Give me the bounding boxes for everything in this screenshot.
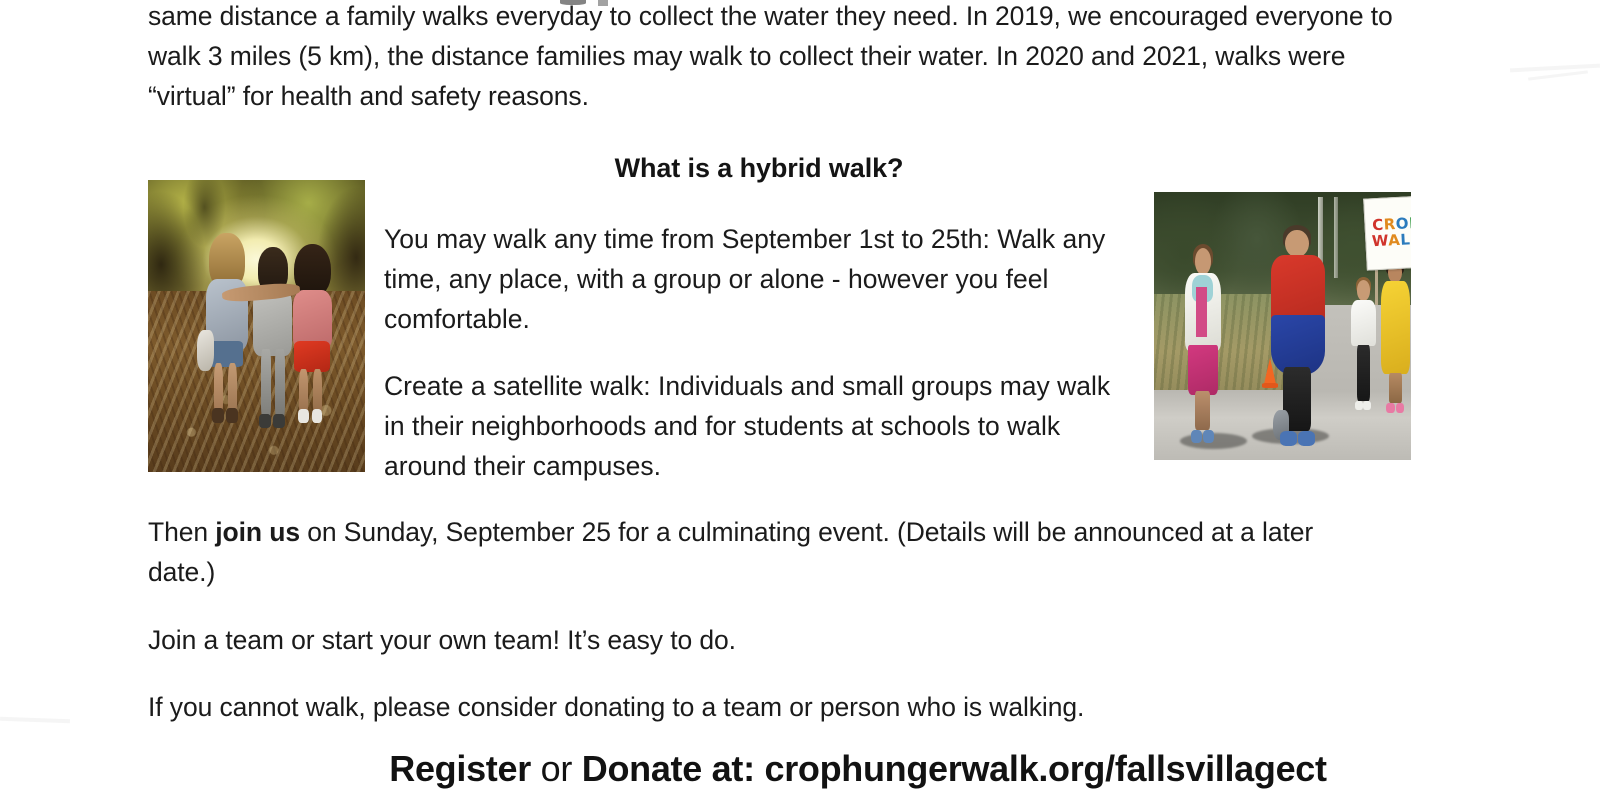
walker-legs	[1357, 345, 1369, 402]
walker-legs	[1389, 373, 1403, 403]
child-shorts	[294, 341, 330, 373]
cone-base	[1262, 383, 1278, 388]
sign-letter: W	[1371, 232, 1388, 251]
tree-trunk	[1334, 197, 1338, 277]
register-label: Register	[389, 748, 531, 789]
join-us-emphasis: join us	[215, 517, 300, 547]
donate-paragraph: If you cannot walk, please consider dona…	[148, 687, 1398, 727]
child-shoe	[226, 408, 237, 423]
inner-top	[1196, 287, 1207, 337]
sign-letter: K	[1410, 230, 1411, 249]
paragraph-text-after-bold: on Sunday, September 25 for a culminatin…	[148, 517, 1313, 587]
carried-bag	[197, 330, 215, 371]
donate-label: Donate at	[582, 748, 743, 789]
cta-connector: or	[531, 748, 582, 789]
walker-shoe	[1298, 431, 1315, 446]
register-donate-cta: Register or Donate at: crophungerwalk.or…	[148, 748, 1568, 790]
cta-separator: :	[743, 748, 764, 789]
walker-head	[1285, 230, 1309, 258]
cone-body	[1264, 358, 1276, 384]
child-shoe	[312, 409, 323, 423]
join-team-paragraph: Join a team or start your own team! It’s…	[148, 620, 1328, 660]
hybrid-walk-paragraph-1: You may walk any time from September 1st…	[384, 219, 1129, 339]
walker-shoe	[1355, 401, 1363, 410]
walker-legs	[1195, 391, 1211, 430]
child-shorts	[209, 341, 243, 367]
yellow-dress	[1381, 281, 1411, 374]
crop-walk-sign: CROP WALK	[1363, 196, 1411, 271]
child-leg	[261, 349, 271, 419]
culminating-event-paragraph: Then join us on Sunday, September 25 for…	[148, 512, 1328, 592]
traffic-cone-icon	[1262, 358, 1278, 388]
crop-walk-sign-line-2: WALK	[1371, 232, 1411, 250]
walker-shoe	[1191, 430, 1202, 444]
sign-letter: A	[1388, 231, 1401, 250]
sign-letter: L	[1400, 230, 1411, 249]
child-shoe	[212, 408, 223, 423]
walker-head	[1195, 248, 1211, 275]
child-figure-right	[287, 244, 343, 419]
walker-child-white-tee	[1349, 280, 1377, 409]
scan-artifact	[1510, 64, 1600, 73]
hybrid-walk-paragraph-2: Create a satellite walk: Individuals and…	[384, 366, 1129, 486]
child-leg	[275, 349, 285, 419]
crop-hunger-walk-url[interactable]: crophungerwalk.org/fallsvillagect	[764, 748, 1326, 789]
walker-shoe	[1386, 403, 1395, 414]
paragraph-text-before-bold: Then	[148, 517, 215, 547]
child-shoe	[273, 414, 284, 428]
child-shoe	[259, 414, 270, 428]
walker-head	[1357, 280, 1371, 301]
flyer-page: same distance a family walks everyday to…	[0, 0, 1600, 800]
child-shoe	[298, 409, 309, 423]
scan-artifact	[0, 717, 70, 723]
walker-shoe	[1396, 403, 1405, 414]
intro-paragraph: same distance a family walks everyday to…	[148, 0, 1400, 116]
scan-artifact	[1528, 70, 1588, 80]
pink-skirt	[1188, 345, 1218, 395]
walker-woman-pink-skirt	[1182, 248, 1223, 441]
walker-yellow-dress	[1380, 262, 1411, 412]
photo-children-walking-trail	[148, 180, 365, 472]
photo-crop-walk-participants: CROP WALK	[1154, 192, 1411, 460]
walker-shoe	[1280, 431, 1297, 446]
white-shirt	[1351, 300, 1376, 346]
walker-shoe	[1203, 430, 1214, 444]
photo-right-scene: CROP WALK	[1154, 192, 1411, 460]
walker-red-shirt	[1270, 230, 1327, 444]
walker-shoe	[1363, 401, 1371, 410]
photo-left-scene	[148, 180, 365, 472]
